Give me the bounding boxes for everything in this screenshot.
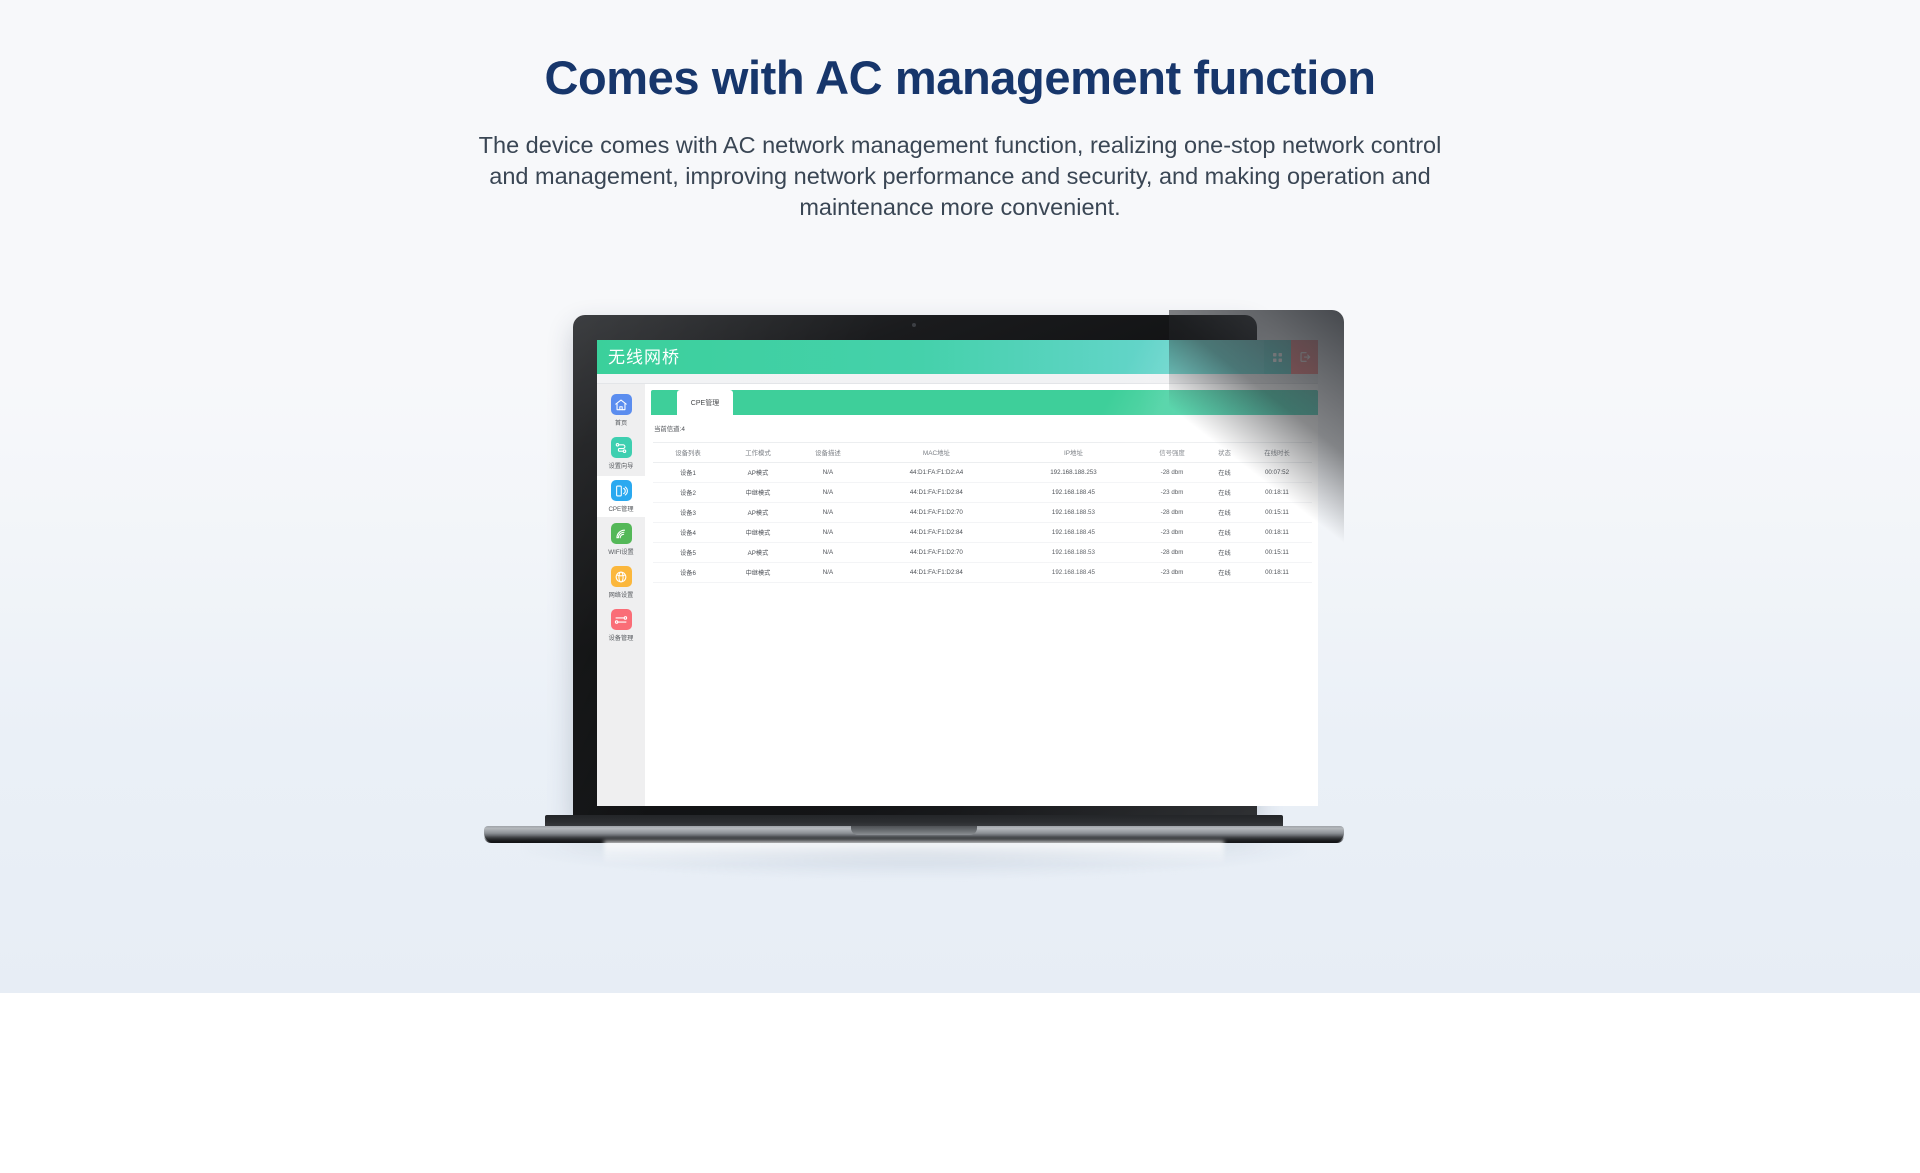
tabbar-fade — [1138, 390, 1318, 415]
cell-uptime: 00:18:11 — [1242, 483, 1312, 503]
page-title: Comes with AC management function — [0, 50, 1920, 105]
sidebar-item-wizard[interactable]: 设置向导 — [597, 433, 645, 474]
cell-ip: 192.168.188.45 — [1010, 483, 1137, 503]
status-badge: 在线 — [1207, 503, 1242, 523]
device-table: 设备列表 工作模式 设备描述 MAC地址 IP地址 信号强度 状态 在线时长 — [653, 442, 1312, 583]
table-row[interactable]: 设备4 中继模式 N/A 44:D1:FA:F1:D2:84 192.168.1… — [653, 523, 1312, 543]
sidebar-item-label: 首页 — [615, 418, 627, 427]
cell-mac: 44:D1:FA:F1:D2:84 — [863, 563, 1010, 583]
tab-bar: CPE管理 — [651, 390, 1318, 415]
table-row[interactable]: 设备1 AP模式 N/A 44:D1:FA:F1:D2:A4 192.168.1… — [653, 463, 1312, 483]
status-badge: 在线 — [1207, 463, 1242, 483]
cell-signal: -23 dbm — [1137, 523, 1207, 543]
table-row[interactable]: 设备5 AP模式 N/A 44:D1:FA:F1:D2:70 192.168.1… — [653, 543, 1312, 563]
main-content: CPE管理 当前信道:4 设备列表 工作模式 设备描述 MAC地址 IP地址 — [645, 384, 1318, 806]
laptop-mockup: 无线网桥 — [484, 310, 1344, 860]
sidebar-item-label: WIFI设置 — [608, 547, 633, 556]
sidebar-item-cpe[interactable]: CPE管理 — [597, 476, 645, 517]
cell-mode: AP模式 — [723, 463, 793, 483]
cell-desc: N/A — [793, 523, 863, 543]
cell-device: 设备4 — [653, 523, 723, 543]
col-online-time: 在线时长 — [1242, 443, 1312, 463]
sidebar-item-label: 网络设置 — [609, 590, 634, 599]
cell-device: 设备3 — [653, 503, 723, 523]
sidebar-item-label: CPE管理 — [608, 504, 633, 513]
cell-mac: 44:D1:FA:F1:D2:70 — [863, 503, 1010, 523]
cell-uptime: 00:07:52 — [1242, 463, 1312, 483]
cpe-device-icon — [611, 480, 632, 501]
cell-mac: 44:D1:FA:F1:D2:70 — [863, 543, 1010, 563]
app-title: 无线网桥 — [608, 349, 680, 366]
home-icon — [611, 394, 632, 415]
table-row[interactable]: 设备6 中继模式 N/A 44:D1:FA:F1:D2:84 192.168.1… — [653, 563, 1312, 583]
sidebar-item-label: 设备管理 — [609, 633, 634, 642]
status-badge: 在线 — [1207, 543, 1242, 563]
cell-mode: AP模式 — [723, 543, 793, 563]
webcam-dot — [912, 323, 916, 327]
cell-signal: -23 dbm — [1137, 563, 1207, 583]
network-globe-icon — [611, 566, 632, 587]
cell-mac: 44:D1:FA:F1:D2:84 — [863, 523, 1010, 543]
col-status: 状态 — [1207, 443, 1242, 463]
status-badge: 在线 — [1207, 563, 1242, 583]
col-device-desc: 设备描述 — [793, 443, 863, 463]
laptop-reflection — [604, 841, 1224, 865]
cell-mode: 中继模式 — [723, 483, 793, 503]
app-screen: 无线网桥 — [597, 340, 1318, 806]
cell-ip: 192.168.188.53 — [1010, 503, 1137, 523]
table-row[interactable]: 设备2 中继模式 N/A 44:D1:FA:F1:D2:84 192.168.1… — [653, 483, 1312, 503]
hero-section: Comes with AC management function The de… — [0, 0, 1920, 993]
sidebar-item-label: 设置向导 — [609, 461, 634, 470]
cell-device: 设备1 — [653, 463, 723, 483]
cell-device: 设备5 — [653, 543, 723, 563]
sidebar-item-network[interactable]: 网络设置 — [597, 562, 645, 603]
sliders-icon — [611, 609, 632, 630]
sidebar-item-wifi[interactable]: WIFI设置 — [597, 519, 645, 560]
status-badge: 在线 — [1207, 483, 1242, 503]
cell-uptime: 00:15:11 — [1242, 503, 1312, 523]
wifi-icon — [611, 523, 632, 544]
table-body: 设备1 AP模式 N/A 44:D1:FA:F1:D2:A4 192.168.1… — [653, 463, 1312, 583]
logout-icon[interactable] — [1291, 340, 1318, 374]
sidebar-item-home[interactable]: 首页 — [597, 390, 645, 431]
cell-signal: -28 dbm — [1137, 463, 1207, 483]
lower-white-section — [0, 993, 1920, 1173]
cell-desc: N/A — [793, 503, 863, 523]
cell-device: 设备6 — [653, 563, 723, 583]
col-mac-address: MAC地址 — [863, 443, 1010, 463]
table-row[interactable]: 设备3 AP模式 N/A 44:D1:FA:F1:D2:70 192.168.1… — [653, 503, 1312, 523]
wizard-icon — [611, 437, 632, 458]
cell-uptime: 00:18:11 — [1242, 523, 1312, 543]
cell-desc: N/A — [793, 483, 863, 503]
table-header-row: 设备列表 工作模式 设备描述 MAC地址 IP地址 信号强度 状态 在线时长 — [653, 443, 1312, 463]
sidebar-item-device-manage[interactable]: 设备管理 — [597, 605, 645, 646]
cell-mac: 44:D1:FA:F1:D2:A4 — [863, 463, 1010, 483]
page-subtitle: The device comes with AC network managem… — [470, 130, 1450, 223]
cell-mode: 中继模式 — [723, 563, 793, 583]
app-header: 无线网桥 — [597, 340, 1318, 374]
header-actions — [1264, 340, 1318, 374]
app-body: 首页 设置向导 CPE管理 — [597, 384, 1318, 806]
cell-mode: 中继模式 — [723, 523, 793, 543]
cell-ip: 192.168.188.45 — [1010, 523, 1137, 543]
col-ip-address: IP地址 — [1010, 443, 1137, 463]
cell-mode: AP模式 — [723, 503, 793, 523]
cell-desc: N/A — [793, 463, 863, 483]
header-divider — [597, 374, 1318, 384]
cell-signal: -28 dbm — [1137, 503, 1207, 523]
cell-ip: 192.168.188.253 — [1010, 463, 1137, 483]
cell-signal: -23 dbm — [1137, 483, 1207, 503]
cell-ip: 192.168.188.45 — [1010, 563, 1137, 583]
cell-mac: 44:D1:FA:F1:D2:84 — [863, 483, 1010, 503]
cell-device: 设备2 — [653, 483, 723, 503]
col-work-mode: 工作模式 — [723, 443, 793, 463]
cell-uptime: 00:18:11 — [1242, 563, 1312, 583]
grid-icon[interactable] — [1264, 340, 1291, 374]
cell-ip: 192.168.188.53 — [1010, 543, 1137, 563]
sidebar: 首页 设置向导 CPE管理 — [597, 384, 645, 806]
cell-desc: N/A — [793, 563, 863, 583]
cell-uptime: 00:15:11 — [1242, 543, 1312, 563]
cell-desc: N/A — [793, 543, 863, 563]
tab-cpe-management[interactable]: CPE管理 — [677, 390, 733, 415]
current-channel-label: 当前信道:4 — [654, 424, 1318, 433]
col-device-list: 设备列表 — [653, 443, 723, 463]
status-badge: 在线 — [1207, 523, 1242, 543]
col-signal: 信号强度 — [1137, 443, 1207, 463]
cell-signal: -28 dbm — [1137, 543, 1207, 563]
